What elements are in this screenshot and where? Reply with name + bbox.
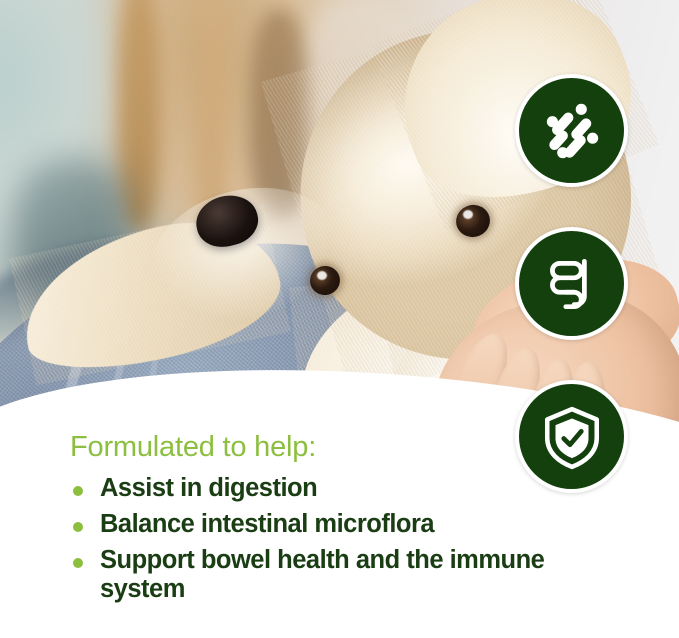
benefit-item: Balance intestinal microflora (70, 510, 630, 540)
probiotic-bacteria-icon (539, 98, 605, 164)
badge-immune-shield (515, 380, 628, 493)
benefits-list: Assist in digestion Balance intestinal m… (70, 474, 630, 604)
bullet-dot-icon (73, 486, 83, 496)
bullet-dot-icon (73, 558, 83, 568)
benefit-label: Balance intestinal microflora (100, 510, 434, 538)
intestines-icon (539, 251, 605, 317)
bullet-dot-icon (73, 522, 83, 532)
badge-gut-health (515, 227, 628, 340)
benefit-label: Assist in digestion (100, 474, 317, 502)
shield-check-icon (539, 404, 605, 470)
benefit-label: Support bowel health and the immune syst… (100, 546, 544, 604)
badge-probiotic (515, 74, 628, 187)
dog-eye-highlight (317, 271, 327, 280)
benefit-item: Support bowel health and the immune syst… (70, 546, 630, 605)
dog-eye-highlight (463, 210, 473, 219)
marketing-banner: Formulated to help: Assist in digestion … (0, 0, 679, 638)
